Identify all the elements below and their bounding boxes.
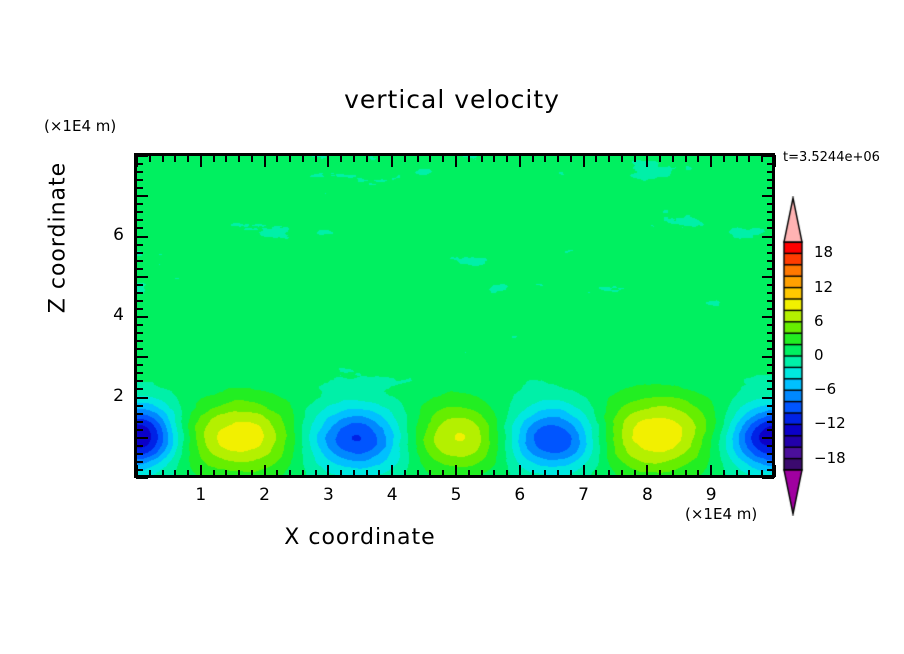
tick-mark: [659, 470, 661, 477]
tick-mark: [762, 477, 774, 479]
x-axis-title: X coordinate: [0, 525, 720, 550]
tick-mark: [761, 470, 763, 477]
tick-mark: [634, 470, 636, 477]
x-axis-unit-label: (×1E4 m): [685, 505, 757, 523]
tick-mark: [595, 470, 597, 477]
tick-mark: [251, 155, 253, 162]
plot-frame: [134, 153, 775, 478]
tick-mark: [442, 155, 444, 162]
tick-mark: [506, 155, 508, 162]
tick-mark: [225, 470, 227, 477]
tick-mark: [136, 477, 148, 479]
tick-mark: [621, 155, 623, 162]
tick-mark: [289, 470, 291, 477]
tick-mark: [767, 292, 774, 294]
x-tick-label: 2: [245, 485, 285, 505]
tick-mark: [762, 276, 774, 278]
tick-mark: [583, 465, 585, 477]
tick-mark: [736, 155, 738, 162]
tick-mark: [532, 470, 534, 477]
tick-mark: [767, 163, 774, 165]
tick-mark: [519, 465, 521, 477]
tick-mark: [442, 470, 444, 477]
tick-mark: [685, 470, 687, 477]
tick-mark: [136, 163, 143, 165]
tick-mark: [767, 469, 774, 471]
tick-mark: [621, 470, 623, 477]
tick-mark: [136, 252, 143, 254]
tick-mark: [200, 465, 202, 477]
tick-mark: [353, 155, 355, 162]
tick-mark: [136, 461, 143, 463]
tick-mark: [544, 155, 546, 162]
tick-mark: [404, 470, 406, 477]
tick-mark: [748, 155, 750, 162]
tick-mark: [570, 470, 572, 477]
tick-mark: [762, 155, 774, 157]
tick-mark: [767, 211, 774, 213]
tick-mark: [136, 316, 148, 318]
tick-mark: [646, 155, 648, 167]
tick-mark: [417, 470, 419, 477]
tick-mark: [378, 470, 380, 477]
tick-mark: [767, 324, 774, 326]
tick-mark: [136, 364, 143, 366]
tick-mark: [136, 356, 148, 358]
tick-mark: [353, 470, 355, 477]
tick-mark: [767, 308, 774, 310]
y-tick-label: 6: [84, 225, 124, 245]
tick-mark: [608, 470, 610, 477]
tick-mark: [238, 470, 240, 477]
tick-mark: [659, 155, 661, 162]
tick-mark: [532, 155, 534, 162]
y-axis-title: Z coordinate: [46, 148, 71, 328]
tick-mark: [767, 268, 774, 270]
tick-mark: [276, 155, 278, 162]
tick-mark: [455, 155, 457, 167]
tick-mark: [378, 155, 380, 162]
tick-mark: [302, 155, 304, 162]
tick-mark: [136, 429, 143, 431]
tick-mark: [136, 268, 143, 270]
y-tick-label: 2: [84, 386, 124, 406]
tick-mark: [557, 155, 559, 162]
tick-mark: [340, 155, 342, 162]
tick-mark: [327, 155, 329, 167]
tick-mark: [544, 470, 546, 477]
tick-mark: [481, 470, 483, 477]
tick-mark: [710, 155, 712, 167]
tick-mark: [748, 470, 750, 477]
tick-mark: [468, 470, 470, 477]
tick-mark: [136, 372, 143, 374]
tick-mark: [136, 405, 143, 407]
tick-mark: [762, 236, 774, 238]
tick-mark: [136, 421, 143, 423]
tick-mark: [774, 465, 776, 477]
tick-mark: [634, 155, 636, 162]
x-tick-label: 3: [308, 485, 348, 505]
tick-mark: [417, 155, 419, 162]
tick-mark: [767, 429, 774, 431]
tick-mark: [136, 195, 148, 197]
tick-mark: [251, 470, 253, 477]
tick-mark: [595, 155, 597, 162]
tick-mark: [767, 284, 774, 286]
tick-mark: [767, 445, 774, 447]
tick-mark: [149, 155, 151, 162]
x-tick-label: 5: [436, 485, 476, 505]
tick-mark: [366, 155, 368, 162]
tick-mark: [429, 470, 431, 477]
tick-mark: [136, 413, 143, 415]
tick-mark: [391, 465, 393, 477]
tick-mark: [767, 219, 774, 221]
tick-mark: [762, 397, 774, 399]
tick-mark: [767, 372, 774, 374]
tick-mark: [767, 340, 774, 342]
tick-mark: [136, 397, 148, 399]
tick-mark: [136, 300, 143, 302]
tick-mark: [762, 437, 774, 439]
y-axis-unit-label: (×1E4 m): [44, 117, 116, 135]
tick-mark: [762, 356, 774, 358]
tick-mark: [213, 470, 215, 477]
tick-mark: [136, 187, 143, 189]
tick-mark: [200, 155, 202, 167]
tick-mark: [315, 470, 317, 477]
tick-mark: [767, 380, 774, 382]
tick-mark: [136, 171, 143, 173]
tick-mark: [136, 203, 143, 205]
tick-mark: [302, 470, 304, 477]
tick-mark: [767, 332, 774, 334]
tick-mark: [710, 465, 712, 477]
tick-mark: [767, 260, 774, 262]
tick-mark: [136, 340, 143, 342]
tick-mark: [672, 155, 674, 162]
tick-mark: [136, 332, 143, 334]
tick-mark: [468, 155, 470, 162]
tick-mark: [366, 470, 368, 477]
tick-mark: [570, 155, 572, 162]
tick-mark: [767, 405, 774, 407]
tick-mark: [174, 470, 176, 477]
x-tick-label: 9: [691, 485, 731, 505]
tick-mark: [493, 155, 495, 162]
tick-mark: [697, 155, 699, 162]
tick-mark: [136, 211, 143, 213]
colorbar-tick-label: −12: [814, 414, 846, 432]
tick-mark: [767, 252, 774, 254]
tick-mark: [136, 348, 143, 350]
tick-mark: [767, 171, 774, 173]
tick-mark: [767, 203, 774, 205]
tick-mark: [136, 276, 148, 278]
tick-mark: [136, 445, 143, 447]
tick-mark: [774, 155, 776, 167]
tick-mark: [225, 155, 227, 162]
tick-mark: [136, 324, 143, 326]
tick-mark: [767, 388, 774, 390]
tick-mark: [149, 470, 151, 477]
tick-mark: [646, 465, 648, 477]
tick-mark: [136, 437, 148, 439]
tick-mark: [519, 155, 521, 167]
tick-mark: [238, 155, 240, 162]
tick-mark: [506, 470, 508, 477]
tick-mark: [493, 470, 495, 477]
tick-mark: [762, 195, 774, 197]
tick-mark: [289, 155, 291, 162]
tick-mark: [136, 179, 143, 181]
tick-mark: [767, 227, 774, 229]
colorbar-tick-label: 12: [814, 278, 833, 296]
tick-mark: [767, 244, 774, 246]
page-title: vertical velocity: [0, 85, 904, 114]
tick-mark: [315, 155, 317, 162]
tick-mark: [685, 155, 687, 162]
y-tick-label: 4: [84, 305, 124, 325]
tick-mark: [672, 470, 674, 477]
tick-mark: [136, 236, 148, 238]
tick-mark: [136, 308, 143, 310]
tick-mark: [429, 155, 431, 162]
tick-mark: [136, 292, 143, 294]
x-tick-label: 4: [372, 485, 412, 505]
tick-mark: [187, 155, 189, 162]
tick-mark: [583, 155, 585, 167]
tick-mark: [136, 453, 143, 455]
x-tick-label: 1: [181, 485, 221, 505]
tick-mark: [136, 244, 143, 246]
tick-mark: [767, 413, 774, 415]
tick-mark: [608, 155, 610, 162]
tick-mark: [136, 219, 143, 221]
colorbar-tick-label: −18: [814, 449, 846, 467]
colorbar: 181260−6−12−18: [780, 196, 814, 516]
tick-mark: [391, 155, 393, 167]
tick-mark: [767, 348, 774, 350]
time-annotation: t=3.5244e+06: [783, 150, 880, 165]
tick-mark: [136, 155, 148, 157]
tick-mark: [767, 453, 774, 455]
tick-mark: [723, 155, 725, 162]
colorbar-tick-label: −6: [814, 380, 836, 398]
tick-mark: [264, 155, 266, 167]
tick-mark: [136, 380, 143, 382]
x-tick-label: 8: [627, 485, 667, 505]
tick-mark: [136, 465, 138, 477]
colorbar-tick-label: 18: [814, 243, 833, 261]
tick-mark: [187, 470, 189, 477]
tick-mark: [136, 469, 143, 471]
tick-mark: [136, 284, 143, 286]
colorbar-tick-label: 0: [814, 346, 824, 364]
tick-mark: [697, 470, 699, 477]
x-tick-label: 7: [564, 485, 604, 505]
tick-mark: [767, 187, 774, 189]
tick-mark: [340, 470, 342, 477]
tick-mark: [136, 388, 143, 390]
tick-mark: [276, 470, 278, 477]
colorbar-gradient: [780, 196, 814, 516]
tick-mark: [162, 155, 164, 162]
tick-mark: [213, 155, 215, 162]
tick-mark: [404, 155, 406, 162]
tick-mark: [736, 470, 738, 477]
tick-mark: [136, 227, 143, 229]
tick-mark: [264, 465, 266, 477]
tick-mark: [162, 470, 164, 477]
tick-mark: [136, 260, 143, 262]
tick-mark: [767, 364, 774, 366]
tick-mark: [455, 465, 457, 477]
tick-mark: [481, 155, 483, 162]
tick-mark: [767, 300, 774, 302]
tick-mark: [767, 179, 774, 181]
tick-mark: [174, 155, 176, 162]
tick-mark: [767, 461, 774, 463]
tick-mark: [767, 421, 774, 423]
tick-mark: [327, 465, 329, 477]
tick-mark: [723, 470, 725, 477]
x-tick-label: 6: [500, 485, 540, 505]
colorbar-tick-label: 6: [814, 312, 824, 330]
tick-mark: [762, 316, 774, 318]
tick-mark: [557, 470, 559, 477]
